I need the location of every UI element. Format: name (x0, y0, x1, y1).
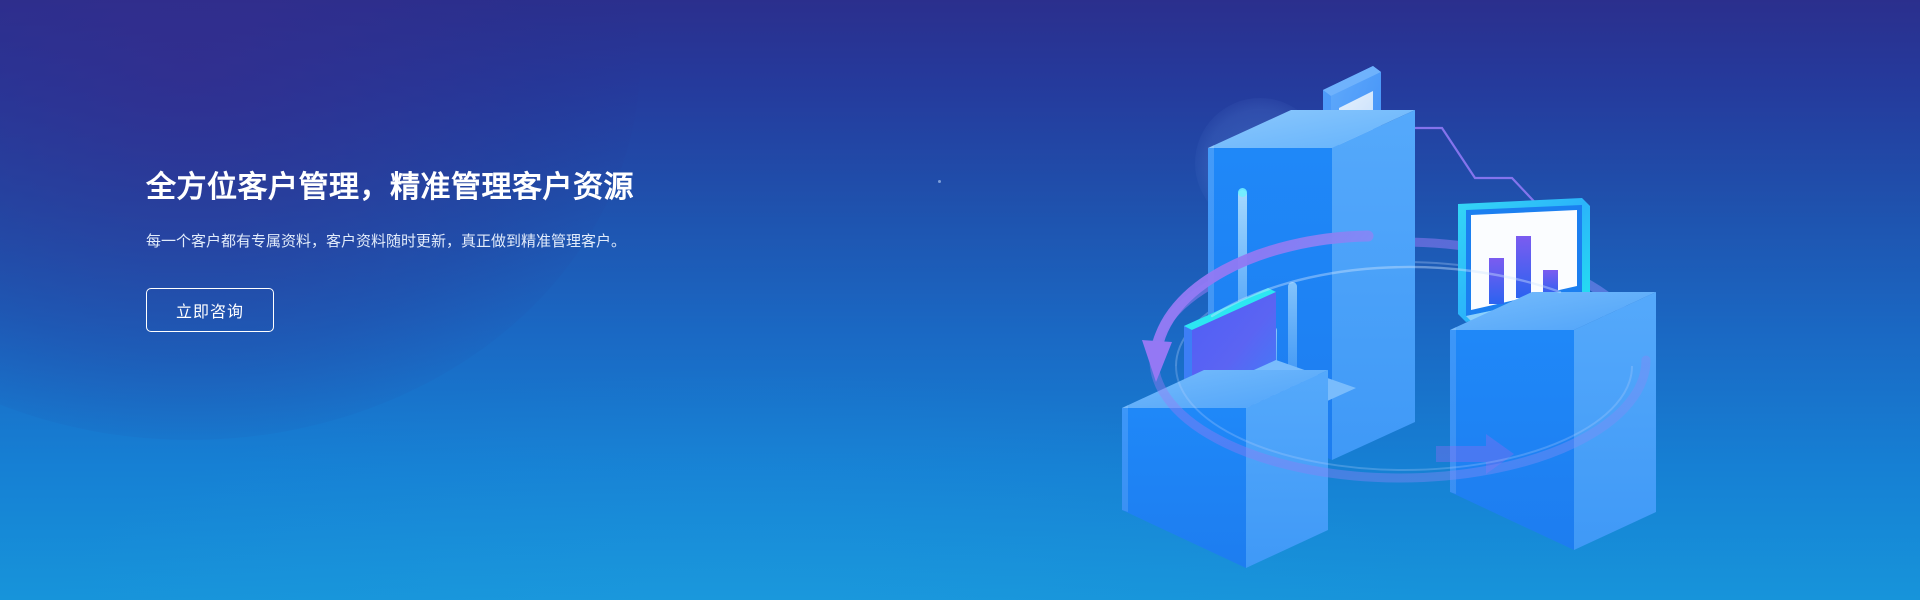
decorative-speck (938, 180, 941, 183)
page-title: 全方位客户管理，精准管理客户资源 (146, 168, 786, 208)
right-pillar-front (1450, 330, 1574, 550)
subheadline: 每一个客户都有专属资料，客户资料随时更新，真正做到精准管理客户。 (146, 230, 628, 254)
center-pillar-side (1332, 110, 1415, 460)
consult-now-button[interactable]: 立即咨询 (146, 288, 274, 332)
arrow-down-left-icon (1142, 340, 1172, 382)
right-pillar (1450, 198, 1656, 550)
hero-banner: 全方位客户管理，精准管理客户资源 每一个客户都有专属资料，客户资料随时更新，真正… (0, 0, 1920, 600)
copy-block: 全方位客户管理，精准管理客户资源 每一个客户都有专属资料，客户资料随时更新，真正… (146, 168, 786, 332)
illustration-isometric-data-platform (1120, 30, 1680, 570)
